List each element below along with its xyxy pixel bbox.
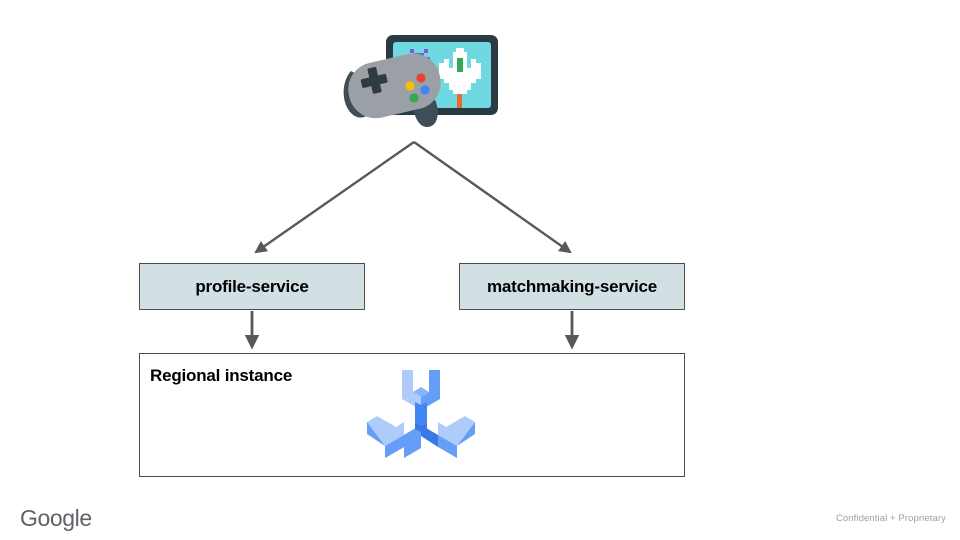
gamepad-button-yellow: [405, 81, 414, 90]
slide-canvas: profile-service matchmaking-service Regi…: [0, 0, 960, 540]
connector-client-to-matchmaking: [414, 142, 570, 252]
gamepad-button-green: [409, 93, 418, 102]
regional-instance-container[interactable]: Regional instance: [139, 353, 685, 477]
gke-icon: [363, 366, 479, 470]
service-label: profile-service: [195, 277, 308, 297]
gaming-console-icon: [340, 30, 505, 145]
regional-instance-label: Regional instance: [150, 366, 292, 386]
gamepad-icon: [343, 48, 446, 127]
gke-center-stem: [415, 402, 427, 425]
google-wordmark: Google: [20, 505, 92, 532]
service-label: matchmaking-service: [487, 277, 657, 297]
confidential-notice: Confidential + Proprietary: [836, 513, 946, 524]
connector-client-to-profile: [256, 142, 414, 252]
service-box-matchmaking-service[interactable]: matchmaking-service: [459, 263, 685, 310]
service-box-profile-service[interactable]: profile-service: [139, 263, 365, 310]
gamepad-button-blue: [420, 85, 429, 94]
gamepad-button-red: [416, 73, 425, 82]
